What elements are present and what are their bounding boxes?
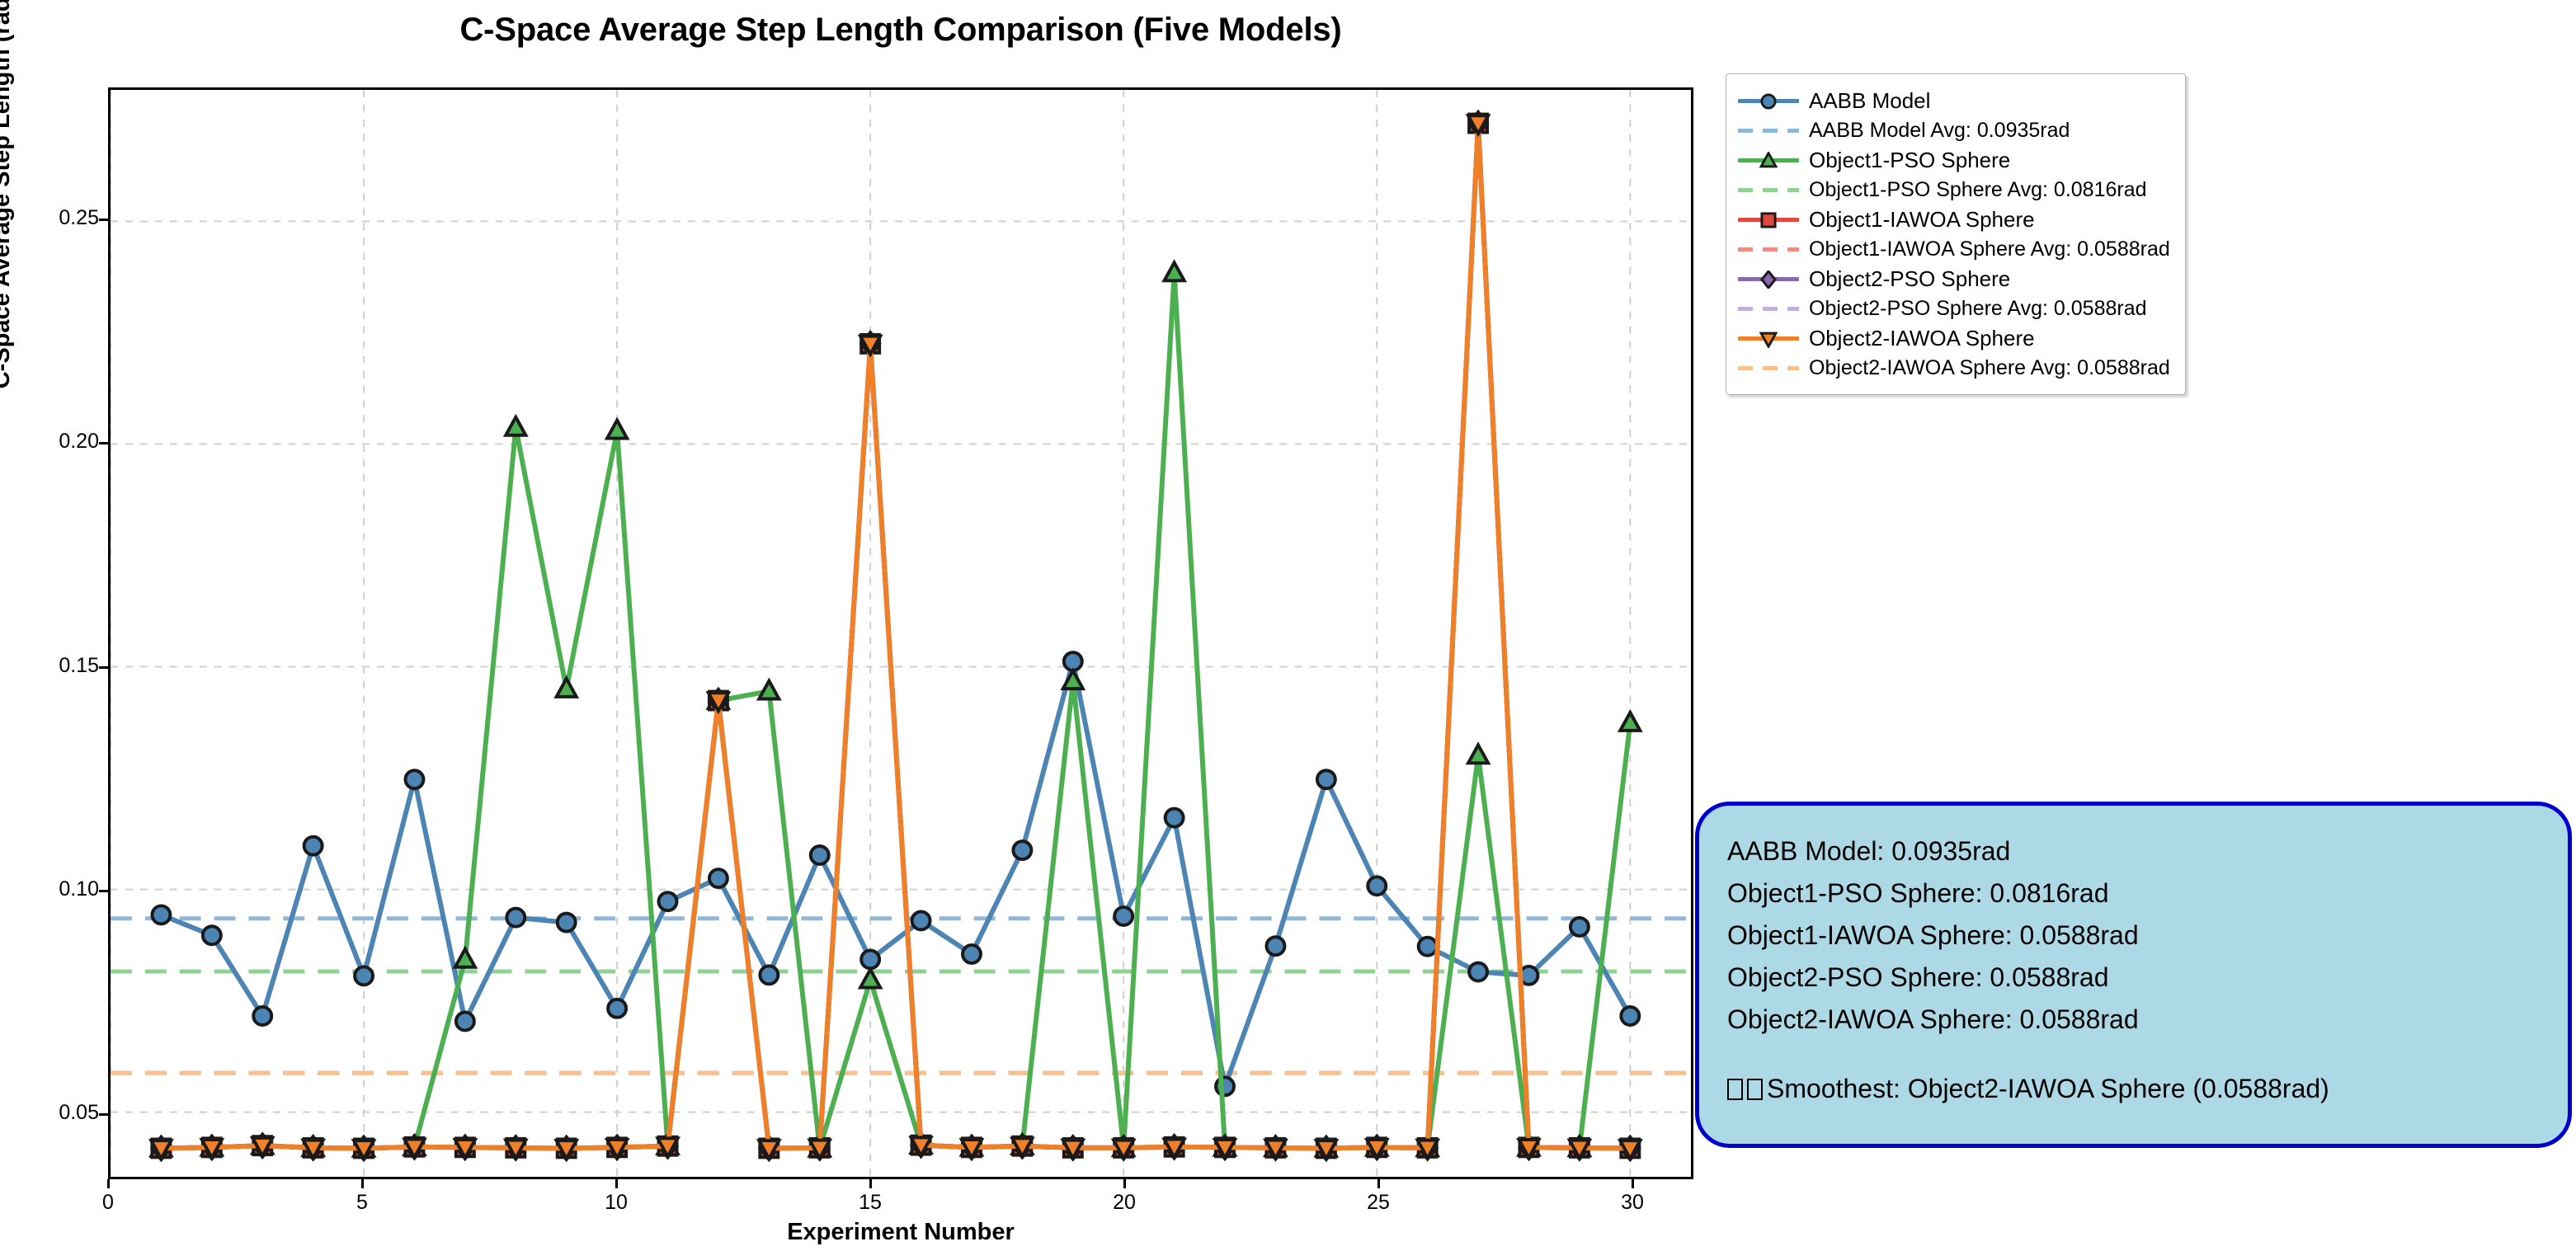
legend-entry[interactable]: Object1-PSO Sphere: [1738, 145, 2170, 175]
y-tick-mark: [99, 890, 108, 892]
y-tick-mark: [99, 1113, 108, 1116]
x-tick-label: 20: [1091, 1191, 1157, 1215]
legend-entry[interactable]: Object2-PSO Sphere Avg: 0.0588rad: [1738, 294, 2170, 323]
info-line: Object1-PSO Sphere: 0.0816rad: [1727, 872, 2540, 915]
series-object2-iawoa-sphere: [151, 115, 1640, 1159]
x-tick-mark: [615, 1179, 618, 1188]
plot-area: [108, 87, 1693, 1179]
x-tick-label: 30: [1599, 1191, 1665, 1215]
legend-swatch-dash-icon: [1738, 175, 1799, 205]
y-tick-label: 0.10: [59, 877, 99, 901]
legend-entry[interactable]: Object1-IAWOA Sphere: [1738, 205, 2170, 234]
figure-canvas: C-Space Average Step Length Comparison (…: [0, 0, 2576, 1251]
info-line: Object2-PSO Sphere: 0.0588rad: [1727, 957, 2540, 999]
legend-swatch-triangle-up-icon: [1738, 145, 1799, 175]
legend-swatch-triangle-down-icon: [1738, 323, 1799, 353]
x-tick-mark: [1632, 1179, 1634, 1188]
missing-glyph-icon: [1727, 1079, 1743, 1100]
info-line: AABB Model: 0.0935rad: [1727, 830, 2540, 872]
smoothest-highlight: Smoothest: Object2-IAWOA Sphere (0.0588r…: [1727, 1074, 2540, 1104]
y-tick-label: 0.20: [59, 430, 99, 454]
legend-swatch-square-icon: [1738, 205, 1799, 234]
x-tick-label: 25: [1345, 1191, 1411, 1215]
legend-label: Object2-IAWOA Sphere: [1809, 326, 2035, 351]
legend-label: AABB Model Avg: 0.0935rad: [1809, 119, 2070, 143]
legend-swatch-diamond-icon: [1738, 264, 1799, 294]
y-tick-mark: [99, 219, 108, 221]
legend-label: Object1-PSO Sphere: [1809, 148, 2010, 173]
x-tick-mark: [361, 1179, 364, 1188]
legend-entry[interactable]: AABB Model Avg: 0.0935rad: [1738, 115, 2170, 145]
info-spacer: [1727, 1041, 2540, 1074]
missing-glyph-icon: [1747, 1079, 1763, 1100]
legend-label: Object2-PSO Sphere: [1809, 266, 2010, 292]
y-axis-label: C-Space Average Step Length (radians): [0, 0, 16, 429]
x-tick-mark: [1377, 1179, 1380, 1188]
legend-entry[interactable]: Object1-IAWOA Sphere Avg: 0.0588rad: [1738, 234, 2170, 264]
legend-swatch-dash-icon: [1738, 234, 1799, 264]
legend-entry[interactable]: Object2-PSO Sphere: [1738, 264, 2170, 294]
x-axis-label: Experiment Number: [108, 1219, 1693, 1246]
smoothest-text: Smoothest: Object2-IAWOA Sphere (0.0588r…: [1767, 1074, 2329, 1103]
y-tick-label: 0.15: [59, 654, 99, 678]
series-object1-iawoa-sphere: [152, 115, 1639, 1158]
legend-label: Object1-IAWOA Sphere Avg: 0.0588rad: [1809, 238, 2170, 261]
x-tick-label: 0: [75, 1191, 141, 1215]
series-object2-pso-sphere: [152, 112, 1639, 1159]
info-line: Object2-IAWOA Sphere: 0.0588rad: [1727, 999, 2540, 1041]
plot-svg: [111, 90, 1691, 1177]
y-tick-label: 0.25: [59, 206, 99, 230]
legend-entry[interactable]: Object2-IAWOA Sphere: [1738, 323, 2170, 353]
legend-swatch-circle-icon: [1738, 86, 1799, 115]
legend-label: Object1-PSO Sphere Avg: 0.0816rad: [1809, 178, 2147, 202]
page-title: C-Space Average Step Length Comparison (…: [108, 12, 1693, 49]
y-tick-mark: [99, 666, 108, 669]
legend-swatch-dash-icon: [1738, 115, 1799, 145]
y-tick-mark: [99, 442, 108, 444]
legend-label: Object2-PSO Sphere Avg: 0.0588rad: [1809, 297, 2147, 321]
summary-info-box: AABB Model: 0.0935radObject1-PSO Sphere:…: [1695, 802, 2572, 1148]
x-tick-label: 5: [329, 1191, 395, 1215]
chart-legend: AABB ModelAABB Model Avg: 0.0935radObjec…: [1726, 73, 2186, 395]
legend-swatch-dash-icon: [1738, 353, 1799, 383]
x-tick-mark: [869, 1179, 872, 1188]
legend-entry[interactable]: AABB Model: [1738, 86, 2170, 115]
legend-label: Object2-IAWOA Sphere Avg: 0.0588rad: [1809, 356, 2170, 380]
info-line: Object1-IAWOA Sphere: 0.0588rad: [1727, 915, 2540, 957]
legend-label: AABB Model: [1809, 88, 1930, 114]
legend-label: Object1-IAWOA Sphere: [1809, 207, 2035, 233]
legend-entry[interactable]: Object2-IAWOA Sphere Avg: 0.0588rad: [1738, 353, 2170, 383]
legend-entry[interactable]: Object1-PSO Sphere Avg: 0.0816rad: [1738, 175, 2170, 205]
legend-swatch-dash-icon: [1738, 294, 1799, 323]
x-tick-label: 15: [837, 1191, 903, 1215]
y-tick-label: 0.05: [59, 1101, 99, 1125]
x-tick-label: 10: [583, 1191, 649, 1215]
x-tick-mark: [1123, 1179, 1126, 1188]
x-tick-mark: [107, 1179, 110, 1188]
